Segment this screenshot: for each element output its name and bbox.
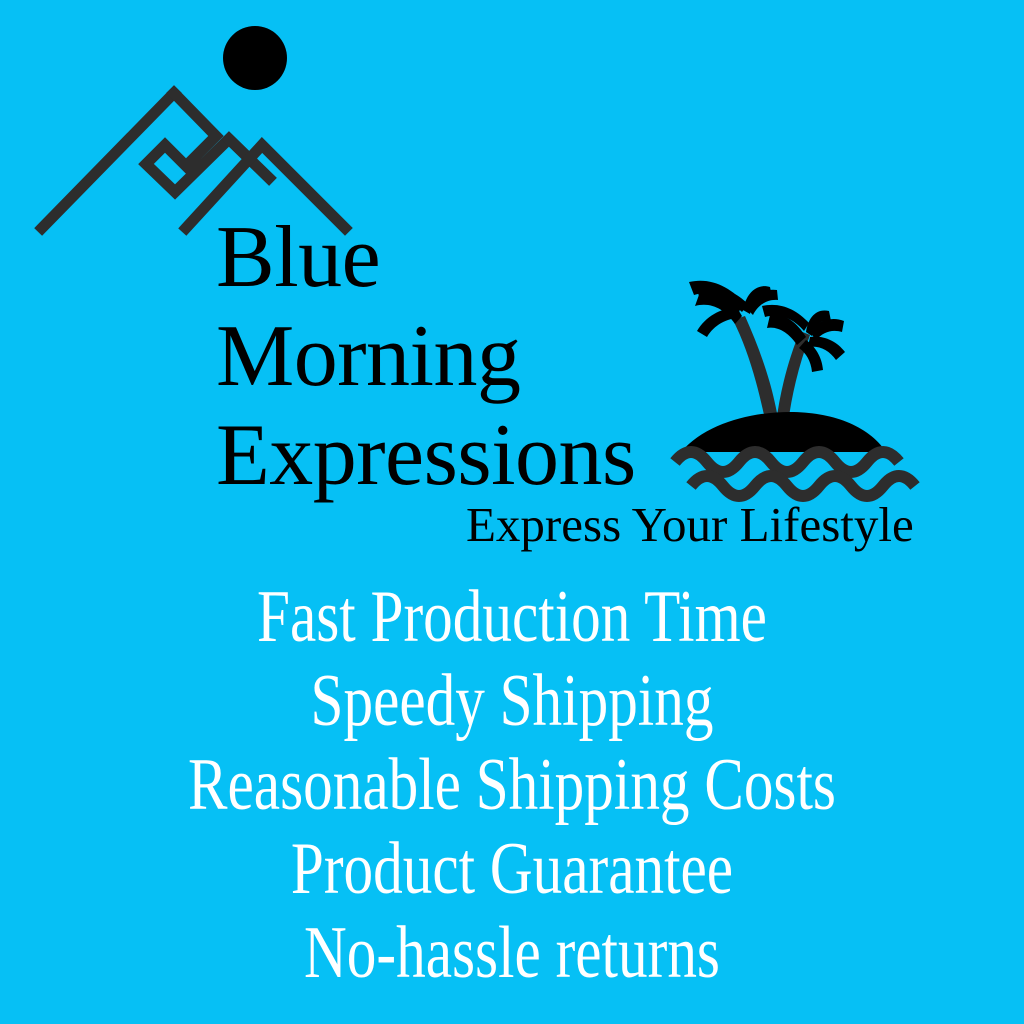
benefit-item: Reasonable Shipping Costs	[102, 743, 921, 827]
brand-line-3: Expressions	[216, 406, 756, 505]
benefit-item: Product Guarantee	[102, 827, 921, 911]
benefit-item: Speedy Shipping	[102, 659, 921, 743]
benefit-item: Fast Production Time	[102, 575, 921, 659]
promo-graphic: Blue Morning Expressions Express Your Li…	[0, 0, 1024, 1024]
brand-wordmark: Blue Morning Expressions	[216, 208, 756, 505]
sun-circle-icon	[223, 26, 287, 90]
palm-fronds-right-icon	[762, 305, 845, 372]
brand-line-1: Blue	[216, 208, 756, 307]
brand-tagline: Express Your Lifestyle	[466, 497, 914, 552]
benefit-item: No-hassle returns	[102, 911, 921, 995]
brand-line-2: Morning	[216, 307, 756, 406]
benefits-list: Fast Production Time Speedy Shipping Rea…	[0, 575, 1024, 995]
